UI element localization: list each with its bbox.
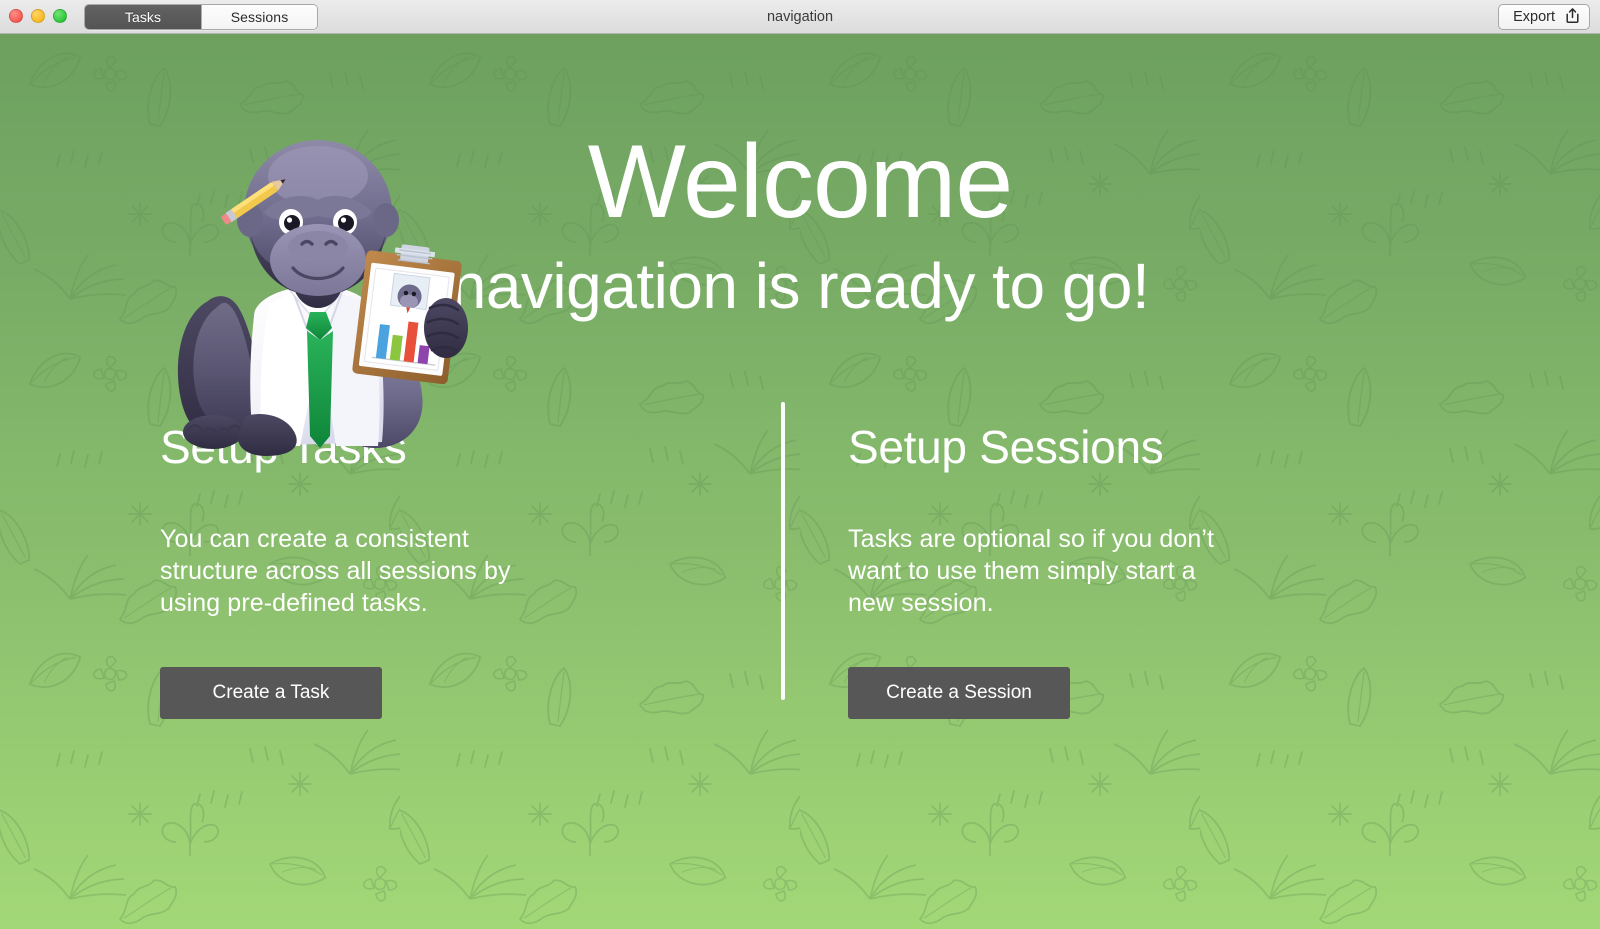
welcome-screen: Welcome navigation is ready to go! bbox=[0, 34, 1600, 929]
minimize-window-icon[interactable] bbox=[31, 9, 45, 23]
setup-sessions-title: Setup Sessions bbox=[848, 422, 1408, 473]
tab-tasks-label: Tasks bbox=[125, 9, 161, 25]
gorilla-scientist-mascot bbox=[150, 116, 480, 456]
maximize-window-icon[interactable] bbox=[53, 9, 67, 23]
create-task-button[interactable]: Create a Task bbox=[160, 667, 382, 719]
setup-sessions-column: Setup Sessions Tasks are optional so if … bbox=[848, 422, 1408, 719]
window-title-text: navigation bbox=[767, 9, 833, 25]
tab-sessions[interactable]: Sessions bbox=[201, 5, 317, 29]
setup-sessions-description: Tasks are optional so if you don’t want … bbox=[848, 523, 1228, 619]
export-button[interactable]: Export bbox=[1498, 4, 1590, 30]
tab-sessions-label: Sessions bbox=[231, 9, 289, 25]
traffic-light-group bbox=[9, 9, 67, 23]
setup-tasks-description: You can create a consistent structure ac… bbox=[160, 523, 540, 619]
window-titlebar: Tasks Sessions navigation Export bbox=[0, 0, 1600, 34]
share-export-icon bbox=[1564, 7, 1581, 28]
export-button-label: Export bbox=[1513, 9, 1555, 25]
column-divider bbox=[781, 402, 785, 700]
setup-tasks-column: Setup Tasks You can create a consistent … bbox=[160, 422, 720, 719]
close-window-icon[interactable] bbox=[9, 9, 23, 23]
tab-tasks[interactable]: Tasks bbox=[85, 5, 201, 29]
create-session-button[interactable]: Create a Session bbox=[848, 667, 1070, 719]
view-segmented-control[interactable]: Tasks Sessions bbox=[84, 4, 318, 30]
